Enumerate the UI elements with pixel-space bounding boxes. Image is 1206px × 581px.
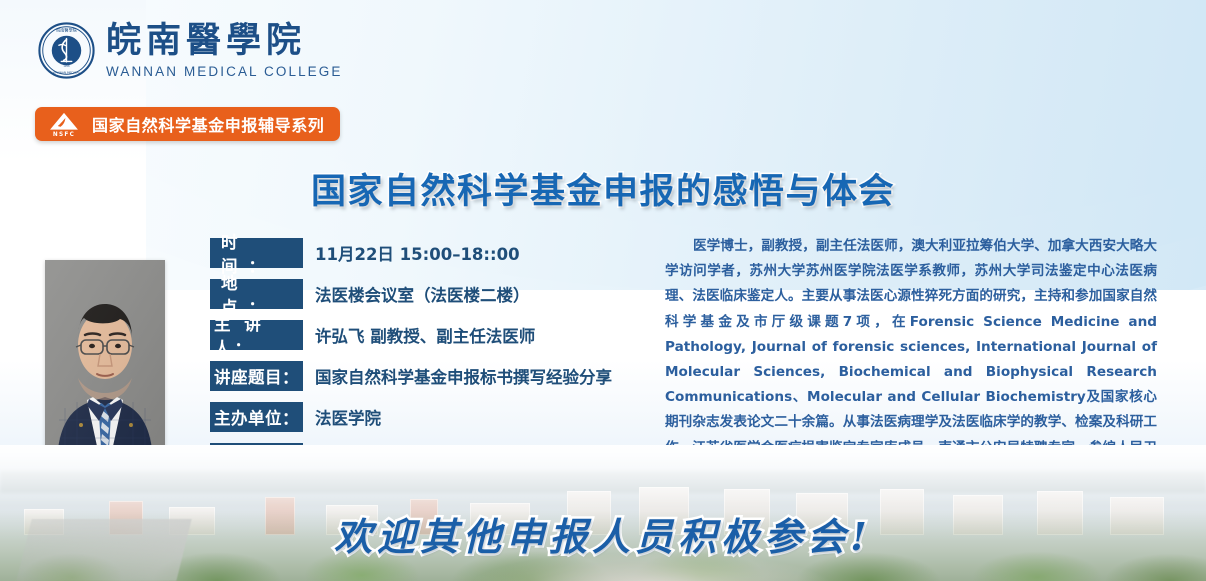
institution-name-cn: 皖南醫學院 (106, 23, 343, 58)
svg-text:NSFC: NSFC (53, 132, 75, 137)
svg-text:1958: 1958 (63, 64, 70, 68)
info-label: 地 点： (210, 279, 303, 309)
nsfc-mountain-icon: NSFC (45, 111, 83, 137)
institution-wordmark: 皖南醫學院 WANNAN MEDICAL COLLEGE (106, 23, 343, 79)
info-value: 法医楼会议室（法医楼二楼） (315, 282, 530, 306)
info-value: 国家自然科学基金申报标书撰写经验分享 (315, 364, 612, 388)
footer-slogan: 欢迎其他申报人员积极参会! (0, 506, 1206, 561)
info-row: 地 点： 法医楼会议室（法医楼二楼） (210, 279, 612, 309)
page-title: 国家自然科学基金申报的感悟与体会 (0, 163, 1206, 214)
info-value: 11月22日 15:00–18::00 (315, 241, 520, 265)
university-seal-icon: 皖南醫學院 WANNAN MEDICAL 1958 (38, 22, 95, 79)
poster-root: 皖南醫學院 WANNAN MEDICAL 1958 皖南醫學院 WANNAN M… (0, 0, 1206, 581)
info-label: 主办单位： (210, 402, 303, 432)
info-row: 讲座题目： 国家自然科学基金申报标书撰写经验分享 (210, 361, 612, 391)
info-row: 主 讲 人： 许弘飞 副教授、副主任法医师 (210, 320, 612, 350)
series-badge-label: 国家自然科学基金申报辅导系列 (92, 112, 324, 136)
speaker-portrait (45, 260, 165, 460)
svg-text:WANNAN MEDICAL: WANNAN MEDICAL (53, 70, 81, 74)
institution-logo: 皖南醫學院 WANNAN MEDICAL 1958 皖南醫學院 WANNAN M… (38, 22, 343, 79)
info-value: 许弘飞 副教授、副主任法医师 (315, 323, 535, 347)
info-label: 时 间： (210, 238, 303, 268)
info-label: 主 讲 人： (210, 320, 303, 350)
institution-name-en: WANNAN MEDICAL COLLEGE (106, 65, 343, 79)
info-row: 时 间： 11月22日 15:00–18::00 (210, 238, 612, 268)
info-row: 主办单位： 法医学院 (210, 402, 612, 432)
svg-text:皖南醫學院: 皖南醫學院 (56, 27, 77, 33)
series-badge: NSFC 国家自然科学基金申报辅导系列 (35, 107, 340, 141)
info-label: 讲座题目： (210, 361, 303, 391)
info-value: 法医学院 (315, 405, 381, 429)
